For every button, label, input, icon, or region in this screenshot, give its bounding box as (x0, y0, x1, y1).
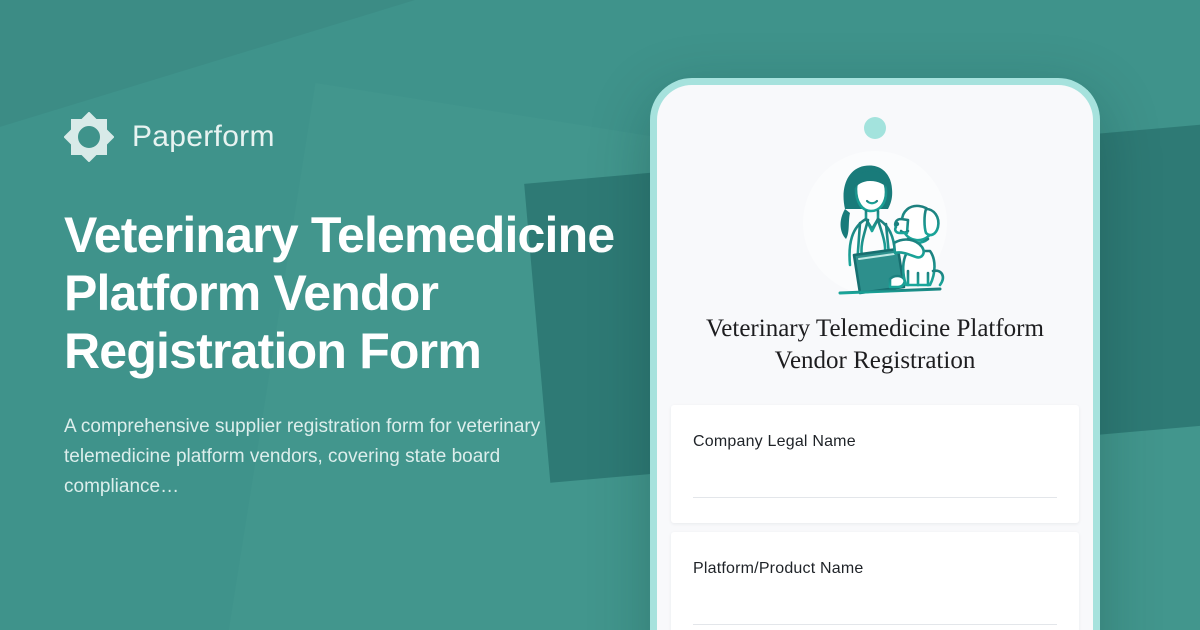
form-field-company-legal-name[interactable]: Company Legal Name (671, 405, 1079, 523)
form-field-platform-product-name[interactable]: Platform/Product Name (671, 532, 1079, 630)
brand-name: Paperform (132, 120, 275, 154)
brand-lockup: Paperform (64, 112, 664, 162)
platform-product-name-input[interactable] (693, 624, 1057, 625)
field-label: Company Legal Name (693, 433, 1057, 451)
company-legal-name-input[interactable] (693, 497, 1057, 498)
veterinarian-with-dog-and-tablet-icon (790, 147, 960, 305)
paperform-logo-icon (64, 112, 114, 162)
form-title: Veterinary Telemedicine Platform Vendor … (657, 313, 1093, 377)
form-fields: Company Legal Name Platform/Product Name (657, 405, 1093, 630)
page-title: Veterinary Telemedicine Platform Vendor … (64, 206, 624, 380)
hero-content: Paperform Veterinary Telemedicine Platfo… (64, 112, 664, 502)
hero-description: A comprehensive supplier registration fo… (64, 412, 584, 502)
promo-banner: Paperform Veterinary Telemedicine Platfo… (0, 0, 1200, 630)
front-camera-dot-icon (864, 117, 886, 139)
phone-mockup: Veterinary Telemedicine Platform Vendor … (650, 78, 1100, 630)
field-label: Platform/Product Name (693, 560, 1057, 578)
